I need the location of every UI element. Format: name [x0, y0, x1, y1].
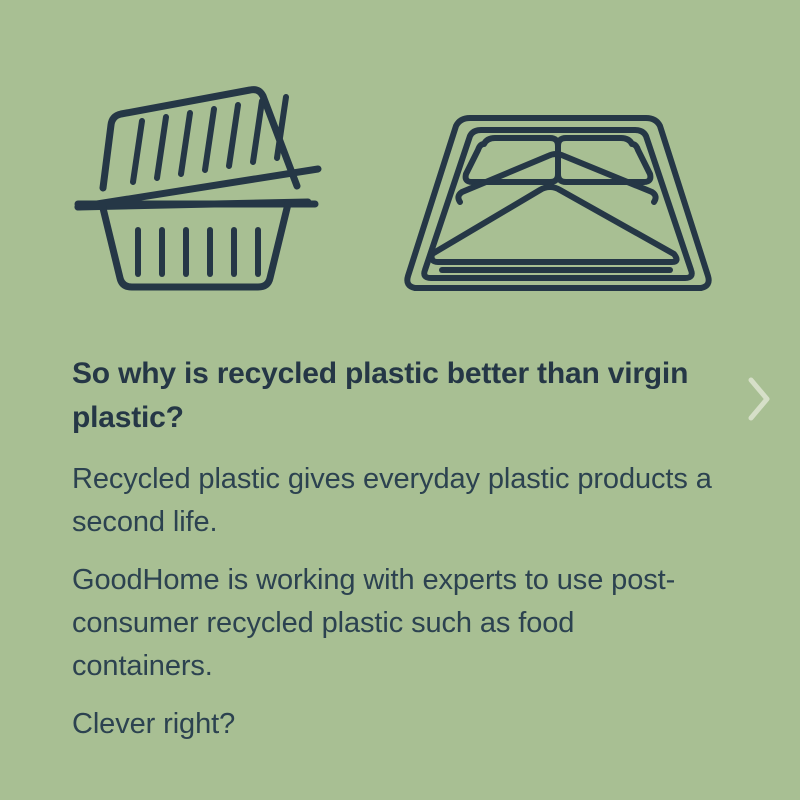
next-slide-button[interactable]: [735, 370, 781, 428]
body-paragraph-3: Clever right?: [72, 703, 712, 746]
page-title: So why is recycled plastic better than v…: [72, 352, 712, 440]
body-paragraph-1: Recycled plastic gives everyday plastic …: [72, 458, 712, 544]
clamshell-food-container-illustration: [62, 52, 332, 302]
compartment-food-tray-illustration: [398, 104, 718, 304]
chevron-right-icon: [735, 370, 781, 428]
body-paragraph-2: GoodHome is working with experts to use …: [72, 559, 712, 688]
promo-slide: So why is recycled plastic better than v…: [0, 0, 800, 800]
copy-block: So why is recycled plastic better than v…: [72, 352, 712, 746]
illustration-band: [0, 0, 800, 330]
